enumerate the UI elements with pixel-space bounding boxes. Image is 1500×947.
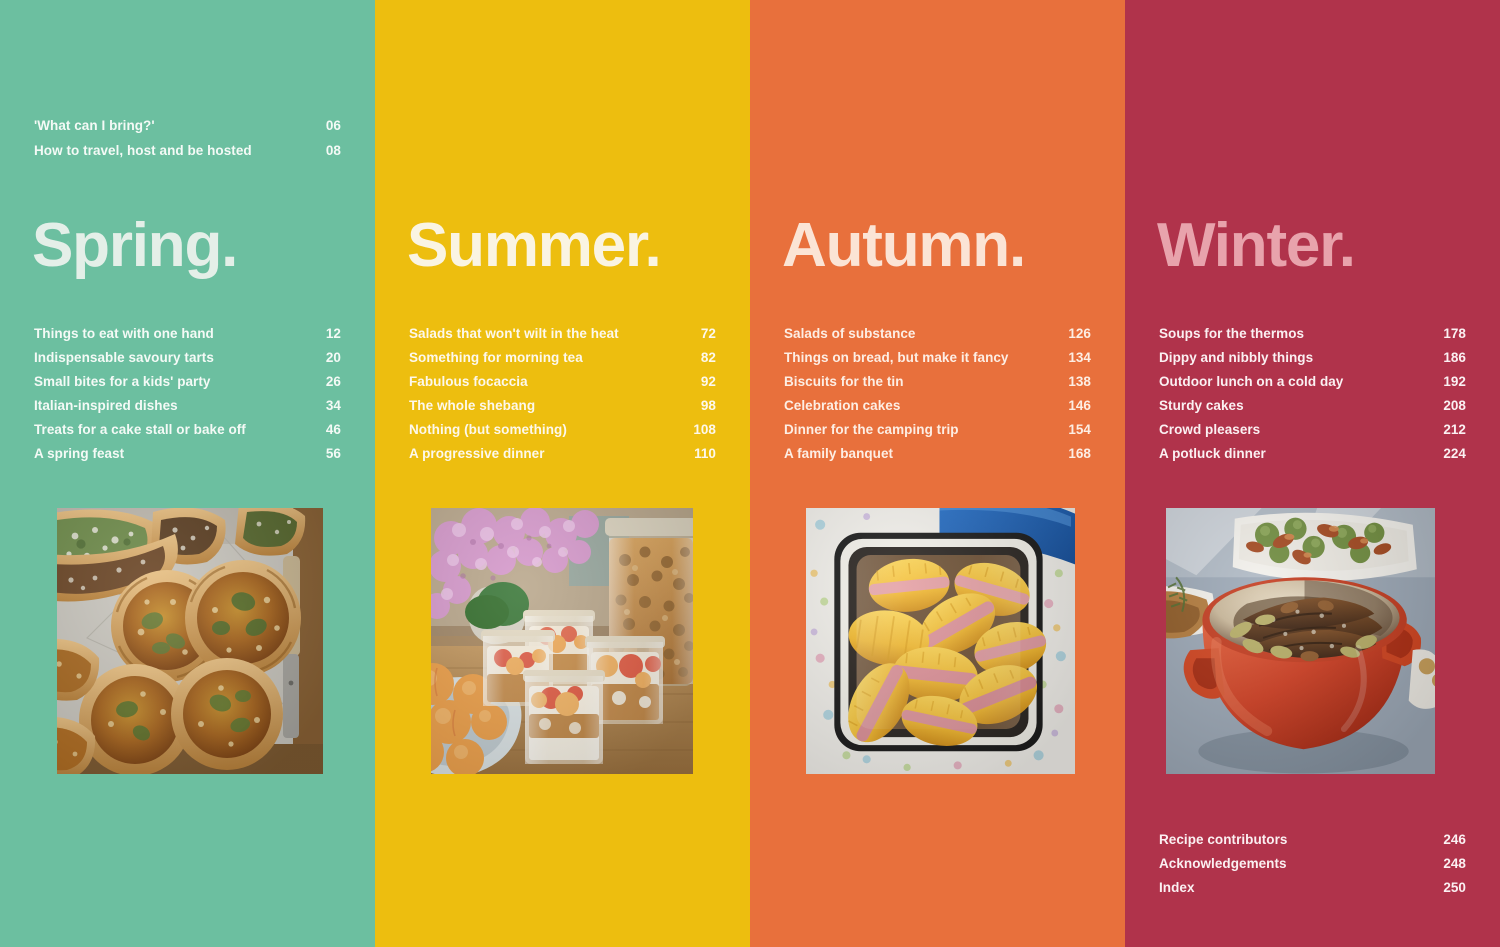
toc-label: Acknowledgements <box>1159 852 1287 876</box>
toc-page-number: 224 <box>1436 442 1466 466</box>
toc-label: Dippy and nibbly things <box>1159 346 1313 370</box>
toc-label: A family banquet <box>784 442 893 466</box>
toc-label: Outdoor lunch on a cold day <box>1159 370 1343 394</box>
toc-page-number: 110 <box>686 442 716 466</box>
toc-page-number: 186 <box>1436 346 1466 370</box>
list-item[interactable]: Salads that won't wilt in the heat 72 <box>409 322 716 346</box>
toc-page-number: 212 <box>1436 418 1466 442</box>
toc-label: A progressive dinner <box>409 442 545 466</box>
list-item[interactable]: Something for morning tea 82 <box>409 346 716 370</box>
toc-page-number: 34 <box>311 394 341 418</box>
toc-page-number: 248 <box>1436 852 1466 876</box>
toc-label: Things to eat with one hand <box>34 322 214 346</box>
season-title-autumn: Autumn. <box>782 210 1025 282</box>
season-column-autumn: Autumn. Salads of substance 126 Things o… <box>750 0 1125 947</box>
photo-spring-savoury-tarts <box>57 508 323 774</box>
toc-page-number: 108 <box>686 418 716 442</box>
toc-label: How to travel, host and be hosted <box>34 138 252 163</box>
list-item[interactable]: Recipe contributors 246 <box>1159 828 1466 852</box>
toc-page-number: 98 <box>686 394 716 418</box>
toc-label: The whole shebang <box>409 394 535 418</box>
toc-label: Salads of substance <box>784 322 916 346</box>
toc-list-spring: Things to eat with one hand 12 Indispens… <box>34 322 341 466</box>
list-item[interactable]: Fabulous focaccia 92 <box>409 370 716 394</box>
list-item[interactable]: How to travel, host and be hosted 08 <box>34 138 341 163</box>
toc-label: Indispensable savoury tarts <box>34 346 214 370</box>
toc-label: Fabulous focaccia <box>409 370 528 394</box>
toc-label: Salads that won't wilt in the heat <box>409 322 619 346</box>
toc-label: A potluck dinner <box>1159 442 1266 466</box>
list-item[interactable]: Outdoor lunch on a cold day 192 <box>1159 370 1466 394</box>
toc-page-number: 20 <box>311 346 341 370</box>
season-column-summer: Summer. Salads that won't wilt in the he… <box>375 0 750 947</box>
toc-list-winter: Soups for the thermos 178 Dippy and nibb… <box>1159 322 1466 466</box>
toc-page-number: 08 <box>311 138 341 163</box>
toc-page-number: 250 <box>1436 876 1466 900</box>
toc-page-number: 82 <box>686 346 716 370</box>
season-title-winter: Winter. <box>1157 210 1355 282</box>
season-title-spring: Spring. <box>32 210 237 282</box>
list-item[interactable]: Index 250 <box>1159 876 1466 900</box>
list-item[interactable]: Italian-inspired dishes 34 <box>34 394 341 418</box>
list-item[interactable]: Biscuits for the tin 138 <box>784 370 1091 394</box>
list-item[interactable]: Dinner for the camping trip 154 <box>784 418 1091 442</box>
toc-page-number: 12 <box>311 322 341 346</box>
toc-page-number: 154 <box>1061 418 1091 442</box>
list-item[interactable]: A family banquet 168 <box>784 442 1091 466</box>
toc-page-number: 178 <box>1436 322 1466 346</box>
photo-winter-braised-ribs-pot <box>1166 508 1435 774</box>
toc-label: A spring feast <box>34 442 124 466</box>
toc-page-number: 208 <box>1436 394 1466 418</box>
toc-label: Nothing (but something) <box>409 418 567 442</box>
toc-list-autumn: Salads of substance 126 Things on bread,… <box>784 322 1091 466</box>
toc-label: Small bites for a kids' party <box>34 370 210 394</box>
toc-page-number: 168 <box>1061 442 1091 466</box>
list-item[interactable]: Crowd pleasers 212 <box>1159 418 1466 442</box>
toc-label: Recipe contributors <box>1159 828 1287 852</box>
toc-label: Index <box>1159 876 1195 900</box>
frontmatter-list: 'What can I bring?' 06 How to travel, ho… <box>34 113 341 163</box>
list-item[interactable]: Sturdy cakes 208 <box>1159 394 1466 418</box>
toc-label: Soups for the thermos <box>1159 322 1304 346</box>
season-column-winter: Winter. Soups for the thermos 178 Dippy … <box>1125 0 1500 947</box>
season-column-spring: 'What can I bring?' 06 How to travel, ho… <box>0 0 375 947</box>
toc-label: 'What can I bring?' <box>34 113 155 138</box>
list-item[interactable]: Acknowledgements 248 <box>1159 852 1466 876</box>
toc-page-number: 72 <box>686 322 716 346</box>
list-item[interactable]: Things to eat with one hand 12 <box>34 322 341 346</box>
toc-page-number: 06 <box>311 113 341 138</box>
toc-label: Dinner for the camping trip <box>784 418 959 442</box>
toc-page-number: 138 <box>1061 370 1091 394</box>
toc-page-number: 56 <box>311 442 341 466</box>
list-item[interactable]: A progressive dinner 110 <box>409 442 716 466</box>
photo-autumn-melting-moments-tin <box>806 508 1075 774</box>
toc-page-number: 146 <box>1061 394 1091 418</box>
toc-label: Celebration cakes <box>784 394 900 418</box>
list-item[interactable]: A potluck dinner 224 <box>1159 442 1466 466</box>
toc-label: Things on bread, but make it fancy <box>784 346 1008 370</box>
list-item[interactable]: Salads of substance 126 <box>784 322 1091 346</box>
toc-page-number: 134 <box>1061 346 1091 370</box>
toc-label: Crowd pleasers <box>1159 418 1260 442</box>
toc-list-summer: Salads that won't wilt in the heat 72 So… <box>409 322 716 466</box>
toc-page-number: 46 <box>311 418 341 442</box>
list-item[interactable]: Dippy and nibbly things 186 <box>1159 346 1466 370</box>
toc-page-number: 92 <box>686 370 716 394</box>
list-item[interactable]: The whole shebang 98 <box>409 394 716 418</box>
list-item[interactable]: Small bites for a kids' party 26 <box>34 370 341 394</box>
list-item[interactable]: Treats for a cake stall or bake off 46 <box>34 418 341 442</box>
list-item[interactable]: Indispensable savoury tarts 20 <box>34 346 341 370</box>
season-title-summer: Summer. <box>407 210 661 282</box>
toc-page-number: 192 <box>1436 370 1466 394</box>
backmatter-list: Recipe contributors 246 Acknowledgements… <box>1159 828 1466 900</box>
toc-label: Italian-inspired dishes <box>34 394 178 418</box>
list-item[interactable]: Nothing (but something) 108 <box>409 418 716 442</box>
toc-page-number: 246 <box>1436 828 1466 852</box>
photo-summer-breakfast-jars <box>431 508 693 774</box>
list-item[interactable]: Things on bread, but make it fancy 134 <box>784 346 1091 370</box>
toc-label: Treats for a cake stall or bake off <box>34 418 246 442</box>
toc-label: Biscuits for the tin <box>784 370 904 394</box>
toc-page-number: 26 <box>311 370 341 394</box>
toc-label: Something for morning tea <box>409 346 583 370</box>
toc-page-number: 126 <box>1061 322 1091 346</box>
list-item[interactable]: Soups for the thermos 178 <box>1159 322 1466 346</box>
list-item[interactable]: 'What can I bring?' 06 <box>34 113 341 138</box>
toc-label: Sturdy cakes <box>1159 394 1244 418</box>
list-item[interactable]: Celebration cakes 146 <box>784 394 1091 418</box>
list-item[interactable]: A spring feast 56 <box>34 442 341 466</box>
